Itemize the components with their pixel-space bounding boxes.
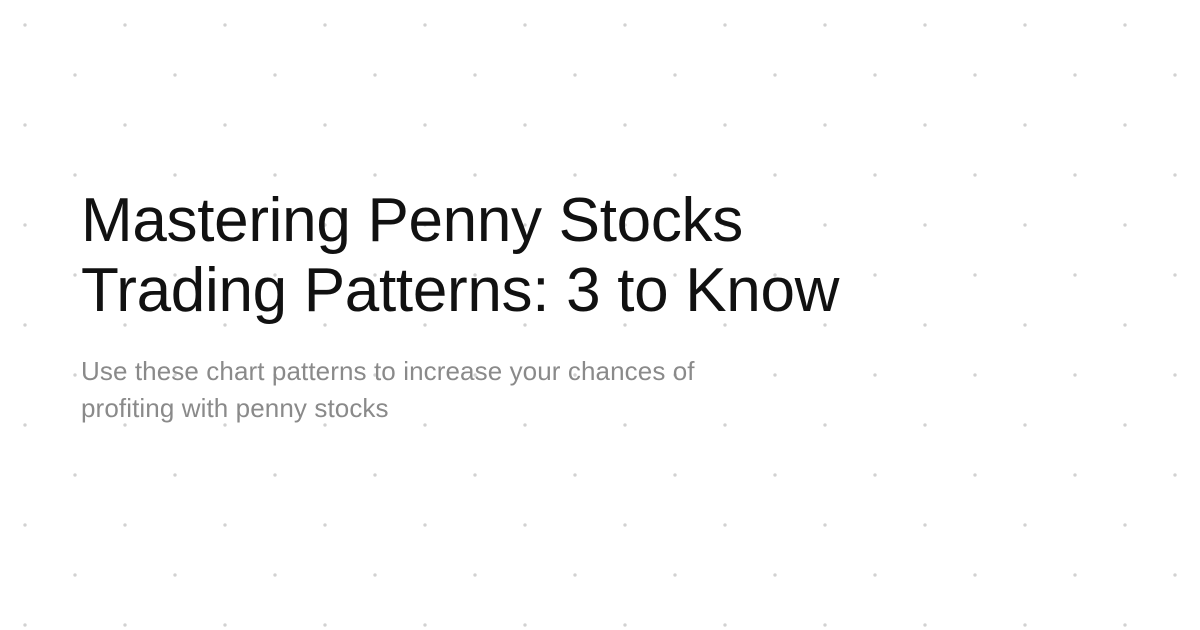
social-share-card: Mastering Penny Stocks Trading Patterns:… [0, 0, 1200, 630]
text-block: Mastering Penny Stocks Trading Patterns:… [81, 186, 1121, 427]
page-subtitle: Use these chart patterns to increase you… [81, 353, 841, 427]
page-title: Mastering Penny Stocks Trading Patterns:… [81, 186, 1121, 326]
